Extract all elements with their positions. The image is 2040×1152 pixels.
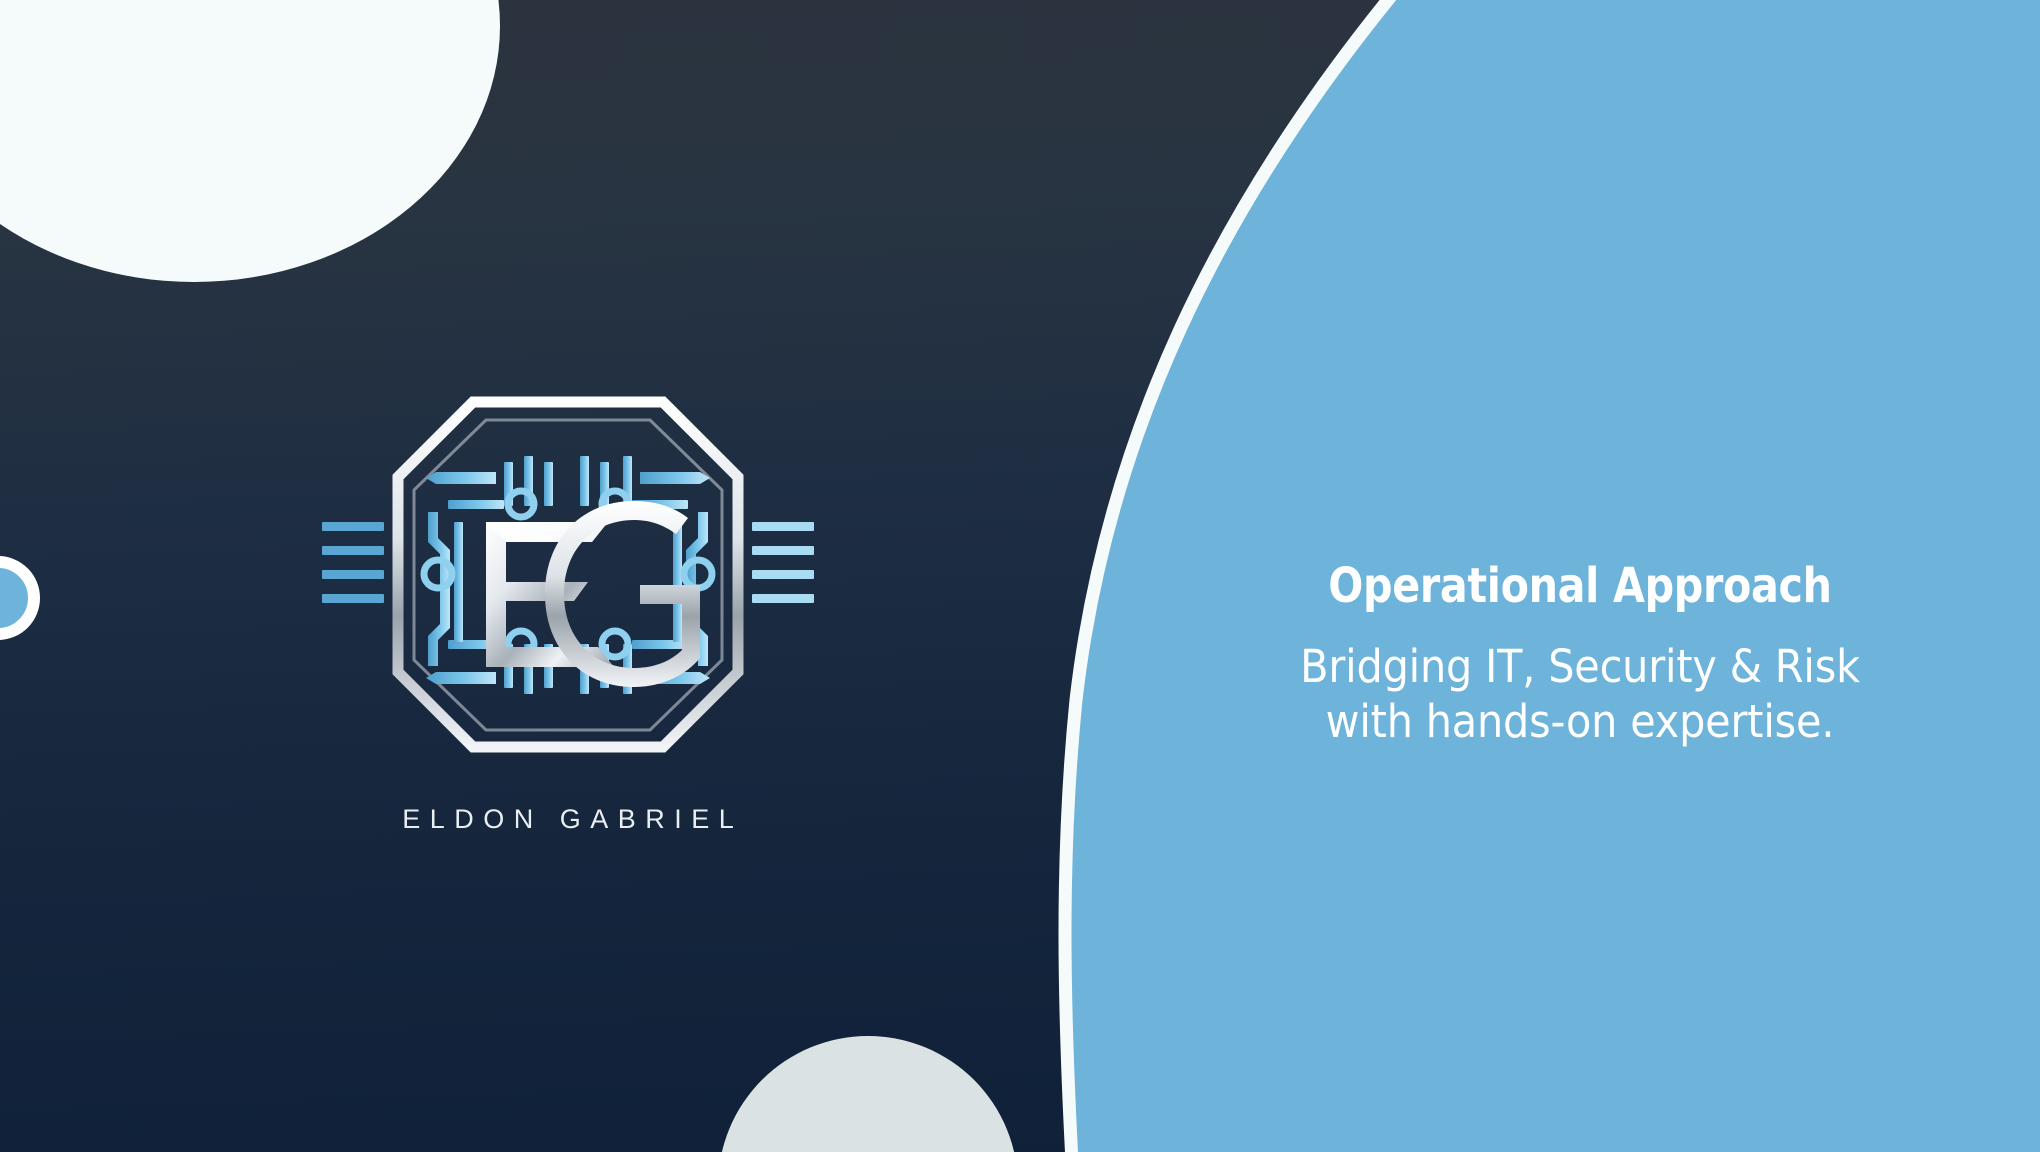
circuit-bars-left — [322, 522, 384, 603]
circuit-bars-right — [752, 522, 814, 603]
page-subtitle-line-2: with hands-on expertise. — [1221, 695, 1939, 750]
page-subtitle-line-1: Bridging IT, Security & Risk — [1221, 640, 1939, 695]
logo-mark — [318, 372, 818, 792]
slide-canvas: ELDON GABRIEL Operational Approach Bridg… — [0, 0, 2040, 1152]
panel-text-block: Operational Approach Bridging IT, Securi… — [1190, 560, 1970, 750]
page-subtitle: Bridging IT, Security & Risk with hands-… — [1221, 640, 1939, 750]
logo-block: ELDON GABRIEL — [318, 372, 818, 835]
page-title: Operational Approach — [1245, 560, 1916, 614]
logo-wordmark: ELDON GABRIEL — [318, 804, 818, 835]
